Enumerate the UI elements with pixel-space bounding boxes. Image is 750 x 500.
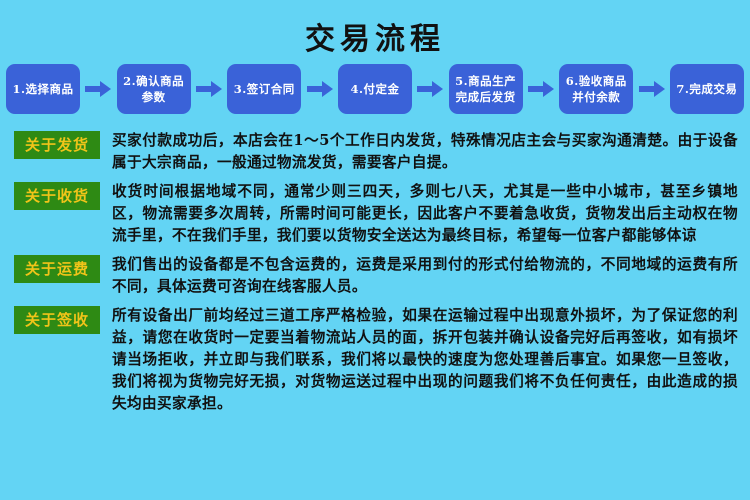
arrow-right-icon [196, 81, 222, 97]
policy-section: 关于签收所有设备出厂前均经过三道工序严格检验，如果在运输过程中出现意外损坏，为了… [14, 305, 738, 415]
flow-step-label: 参数 [142, 89, 166, 105]
arrow-right-icon [417, 81, 443, 97]
flow-step-5: 5.商品生产完成后发货 [449, 64, 523, 114]
flow-step-label: 6.验收商品 [566, 73, 627, 89]
section-body-text: 买家付款成功后，本店会在1～5个工作日内发货，特殊情况店主会与买家沟通清楚。由于… [112, 130, 738, 174]
transaction-flow-diagram: 1.选择商品2.确认商品参数3.签订合同4.付定金5.商品生产完成后发货6.验收… [6, 62, 744, 116]
section-body-text: 所有设备出厂前均经过三道工序严格检验，如果在运输过程中出现意外损坏，为了保证您的… [112, 305, 738, 415]
policy-sections: 关于发货买家付款成功后，本店会在1～5个工作日内发货，特殊情况店主会与买家沟通清… [14, 130, 738, 422]
flow-step-label: 完成后发货 [456, 89, 516, 105]
policy-section: 关于收货收货时间根据地域不同，通常少则三四天，多则七八天，尤其是一些中小城市，甚… [14, 181, 738, 247]
page-title: 交易流程 [0, 14, 750, 58]
policy-section: 关于发货买家付款成功后，本店会在1～5个工作日内发货，特殊情况店主会与买家沟通清… [14, 130, 738, 174]
section-label-badge: 关于发货 [14, 131, 100, 159]
arrow-right-icon [307, 81, 333, 97]
flow-step-label: 7.完成交易 [676, 81, 737, 97]
flow-step-2: 2.确认商品参数 [117, 64, 191, 114]
flow-step-1: 1.选择商品 [6, 64, 80, 114]
section-body-text: 收货时间根据地域不同，通常少则三四天，多则七八天，尤其是一些中小城市，甚至乡镇地… [112, 181, 738, 247]
section-label-badge: 关于运费 [14, 255, 100, 283]
flow-step-7: 7.完成交易 [670, 64, 744, 114]
flow-step-3: 3.签订合同 [227, 64, 301, 114]
section-body-text: 我们售出的设备都是不包含运费的，运费是采用到付的形式付给物流的，不同地域的运费有… [112, 254, 738, 298]
arrow-right-icon [528, 81, 554, 97]
arrow-right-icon [639, 81, 665, 97]
flow-step-label: 3.签订合同 [234, 81, 295, 97]
flow-step-6: 6.验收商品并付余款 [559, 64, 633, 114]
section-label-badge: 关于签收 [14, 306, 100, 334]
flow-step-4: 4.付定金 [338, 64, 412, 114]
flow-step-label: 4.付定金 [350, 81, 399, 97]
section-label-badge: 关于收货 [14, 182, 100, 210]
flow-step-label: 2.确认商品 [123, 73, 184, 89]
flow-step-label: 5.商品生产 [455, 73, 516, 89]
policy-section: 关于运费我们售出的设备都是不包含运费的，运费是采用到付的形式付给物流的，不同地域… [14, 254, 738, 298]
flow-step-label: 1.选择商品 [12, 81, 73, 97]
flow-step-label: 并付余款 [572, 89, 620, 105]
arrow-right-icon [85, 81, 111, 97]
